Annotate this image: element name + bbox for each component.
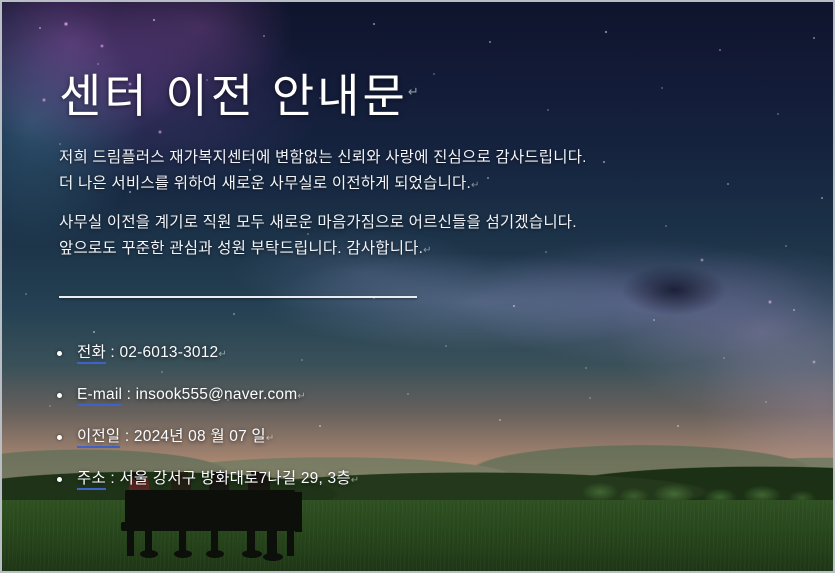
bullet-icon <box>57 477 62 482</box>
bullet-icon <box>57 435 62 440</box>
contact-separator: : <box>120 428 134 445</box>
paragraph-mark-icon: ↵ <box>471 180 480 191</box>
paragraph-mark-icon: ↵ <box>266 433 275 444</box>
page-title: 센터 이전 안내문↵ <box>59 60 419 126</box>
contact-label-phone: 전화 <box>77 344 106 364</box>
paragraph-2-line-1: 사무실 이전을 계기로 직원 모두 새로운 마음가짐으로 어르신들을 섬기겠습니… <box>59 210 577 236</box>
list-item-phone: 전화 : 02-6013-3012↵ <box>50 332 359 374</box>
contact-value-phone[interactable]: 02-6013-3012 <box>119 344 218 361</box>
paragraph-2-line-2-wrap: 앞으로도 꾸준한 관심과 성원 부탁드립니다. 감사합니다.↵ <box>59 236 577 264</box>
list-item-email: E-mail : insook555@naver.com↵ <box>50 374 359 416</box>
contact-separator: : <box>106 470 120 487</box>
paragraph-mark-icon: ↵ <box>218 349 227 360</box>
contact-label-address: 주소 <box>77 470 106 490</box>
contact-value-email[interactable]: insook555@naver.com <box>136 386 298 403</box>
paragraph-2: 사무실 이전을 계기로 직원 모두 새로운 마음가짐으로 어르신들을 섬기겠습니… <box>59 210 577 264</box>
paragraph-2-line-2: 앞으로도 꾸준한 관심과 성원 부탁드립니다. 감사합니다. <box>59 240 423 257</box>
contact-separator: : <box>106 344 120 361</box>
contact-separator: : <box>122 386 136 403</box>
paragraph-1-line-2-wrap: 더 나은 서비스를 위하여 새로운 사무실로 이전하게 되었습니다.↵ <box>59 171 587 199</box>
contact-value-address: 서울 강서구 방화대로7나길 29, 3층 <box>119 470 350 487</box>
notice-poster: 센터 이전 안내문↵ 저희 드림플러스 재가복지센터에 변함없는 신뢰와 사랑에… <box>0 0 835 573</box>
paragraph-mark-icon: ↵ <box>351 475 360 486</box>
contact-label-move-date: 이전일 <box>77 428 120 448</box>
contact-value-move-date: 2024년 08 월 07 일 <box>134 428 266 445</box>
contact-list: 전화 : 02-6013-3012↵ E-mail : insook555@na… <box>50 332 359 500</box>
bullet-icon <box>57 351 62 356</box>
paragraph-mark-icon: ↵ <box>297 391 306 402</box>
paragraph-1: 저희 드림플러스 재가복지센터에 변함없는 신뢰와 사랑에 진심으로 감사드립니… <box>59 145 587 199</box>
paragraph-mark-icon: ↵ <box>408 84 419 99</box>
bullet-icon <box>57 393 62 398</box>
list-item-address: 주소 : 서울 강서구 방화대로7나길 29, 3층↵ <box>50 458 359 500</box>
page-title-text: 센터 이전 안내문 <box>59 70 408 122</box>
grass-field <box>2 500 833 573</box>
horizontal-divider <box>59 296 417 298</box>
paragraph-1-line-2: 더 나은 서비스를 위하여 새로운 사무실로 이전하게 되었습니다. <box>59 175 471 192</box>
paragraph-1-line-1: 저희 드림플러스 재가복지센터에 변함없는 신뢰와 사랑에 진심으로 감사드립니… <box>59 145 587 171</box>
list-item-move-date: 이전일 : 2024년 08 월 07 일↵ <box>50 416 359 458</box>
grass-texture <box>2 500 833 573</box>
paragraph-mark-icon: ↵ <box>423 245 432 256</box>
contact-label-email: E-mail <box>77 386 122 406</box>
